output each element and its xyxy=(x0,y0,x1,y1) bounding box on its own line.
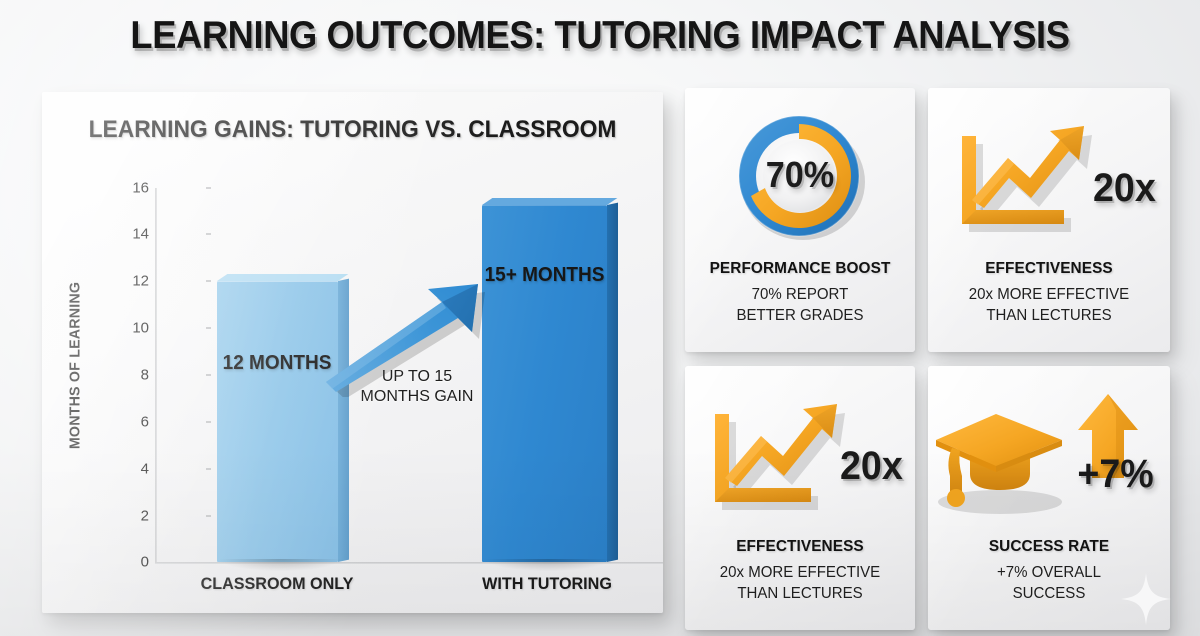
y-tick-label: 0 xyxy=(103,554,149,571)
card-subtext-line-2: BETTER GRADES xyxy=(688,305,911,326)
bar-value-label-tutoring: 15+ MONTHS xyxy=(442,264,646,287)
card-subtext-line-1: +7% OVERALL xyxy=(932,562,1167,583)
page-title: LEARNING OUTCOMES: TUTORING IMPACT ANALY… xyxy=(42,14,1158,58)
card-subtext-line-1: 20x MORE EFFECTIVE xyxy=(932,284,1167,305)
card-heading: EFFECTIVENESS xyxy=(690,538,911,556)
card-subtext-line-2: THAN LECTURES xyxy=(932,305,1167,326)
card-subtext-line-1: 70% REPORT xyxy=(688,284,911,305)
card-subtext: 70% REPORT BETTER GRADES xyxy=(688,284,911,327)
stat-card-performance-boost[interactable]: 70% PERFORMANCE BOOST 70% REPORT BETTER … xyxy=(685,88,915,352)
annotation-line-2: MONTHS GAIN xyxy=(347,387,487,407)
y-tick-mark xyxy=(206,327,211,329)
y-tick-label: 2 xyxy=(103,508,149,525)
y-tick-label: 16 xyxy=(103,180,149,197)
stat-card-success-rate[interactable]: +7% SUCCESS RATE +7% OVERALL SUCCESS xyxy=(928,366,1170,630)
bar-with-tutoring xyxy=(482,205,607,562)
chart-plot-area: MONTHS OF LEARNING 16 14 12 10 8 6 4 2 0 xyxy=(42,92,663,613)
bar-side-face xyxy=(607,203,618,562)
card-subtext-line-2: SUCCESS xyxy=(932,583,1167,604)
bar-chart-panel: LEARNING GAINS: TUTORING VS. CLASSROOM M… xyxy=(42,92,663,613)
bar-classroom-only xyxy=(217,281,338,562)
x-category-label-tutoring: WITH TUTORING xyxy=(438,574,657,594)
y-tick-mark xyxy=(206,187,211,189)
y-axis-line xyxy=(155,188,157,563)
donut-center-value: 70% xyxy=(691,154,910,196)
y-tick-mark xyxy=(206,233,211,235)
y-tick-label: 10 xyxy=(103,320,149,337)
stat-card-effectiveness-bottom[interactable]: 20x EFFECTIVENESS 20x MORE EFFECTIVE THA… xyxy=(685,366,915,630)
bar-front-face xyxy=(482,205,607,562)
card-stat-value: 20x xyxy=(1093,166,1156,211)
card-subtext: +7% OVERALL SUCCESS xyxy=(932,562,1167,605)
y-tick-label: 6 xyxy=(103,414,149,431)
y-axis-label: MONTHS OF LEARNING xyxy=(67,275,84,456)
bar-top-face xyxy=(482,198,617,205)
x-category-label-classroom: CLASSROOM ONLY xyxy=(168,574,387,594)
card-subtext-line-1: 20x MORE EFFECTIVE xyxy=(688,562,911,583)
y-tick-mark xyxy=(206,468,211,470)
card-stat-value: 20x xyxy=(840,444,903,489)
card-subtext-line-2: THAN LECTURES xyxy=(688,583,911,604)
card-heading: SUCCESS RATE xyxy=(933,538,1165,556)
y-tick-label: 14 xyxy=(103,226,149,243)
donut-chart-icon: 70% xyxy=(685,102,915,252)
y-tick-mark xyxy=(206,515,211,517)
card-heading: PERFORMANCE BOOST xyxy=(690,260,911,278)
y-tick-label: 4 xyxy=(103,461,149,478)
y-tick-mark xyxy=(206,421,211,423)
stat-card-effectiveness-top[interactable]: 20x EFFECTIVENESS 20x MORE EFFECTIVE THA… xyxy=(928,88,1170,352)
bar-front-face xyxy=(217,281,338,562)
card-subtext: 20x MORE EFFECTIVE THAN LECTURES xyxy=(932,284,1167,327)
bar-top-face xyxy=(217,274,348,281)
card-stat-value: +7% xyxy=(1077,452,1153,497)
bar-value-label-classroom: 12 MONTHS xyxy=(177,352,377,375)
y-axis-ticks: 16 14 12 10 8 6 4 2 0 xyxy=(97,92,149,613)
y-tick-label: 8 xyxy=(103,367,149,384)
y-tick-mark xyxy=(206,280,211,282)
y-tick-label: 12 xyxy=(103,273,149,290)
infographic-canvas: LEARNING OUTCOMES: TUTORING IMPACT ANALY… xyxy=(0,0,1200,636)
card-subtext: 20x MORE EFFECTIVE THAN LECTURES xyxy=(688,562,911,605)
bar-side-face xyxy=(338,279,349,562)
card-heading: EFFECTIVENESS xyxy=(933,260,1165,278)
